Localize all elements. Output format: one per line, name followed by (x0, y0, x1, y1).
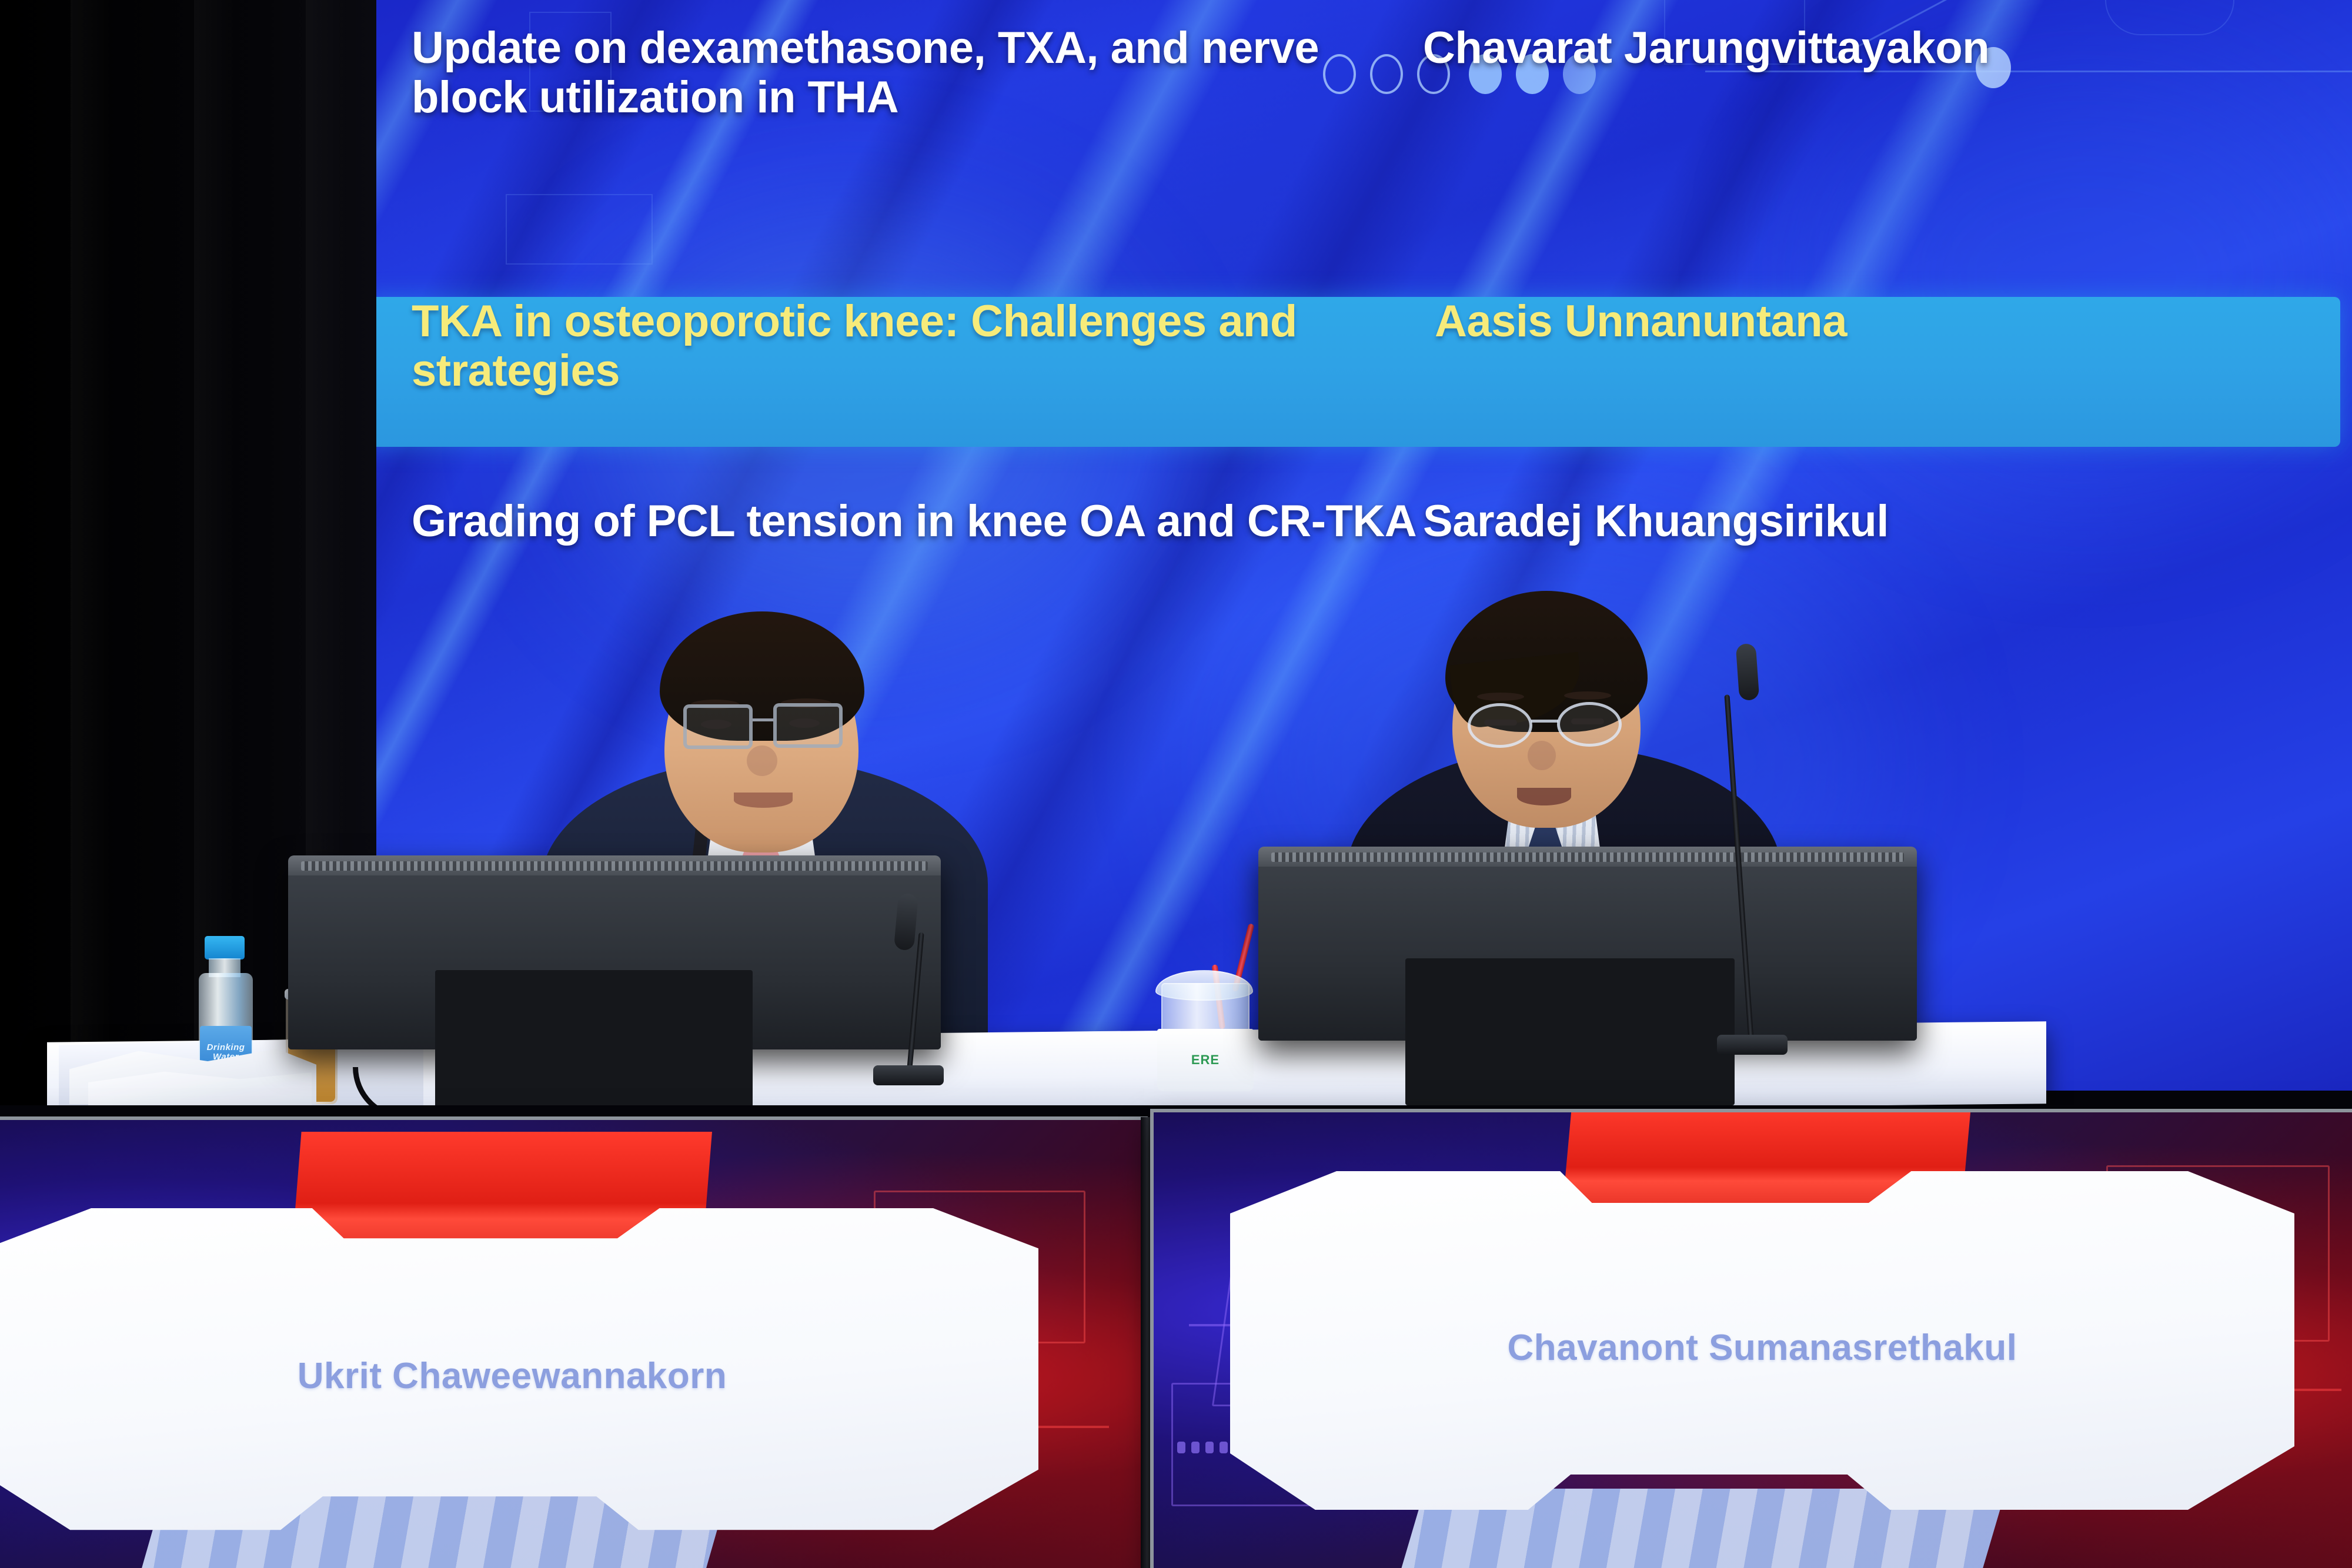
curtain-fold (71, 0, 112, 1117)
slide-row-title: Update on dexamethasone, TXA, and nerve … (353, 24, 1423, 122)
nameplate-screen-left: Ukrit Chaweewannakorn (0, 1120, 1144, 1568)
slide-program-table: Update on dexamethasone, TXA, and nerve … (353, 0, 2352, 706)
panelist-right-eyebrow (1564, 691, 1611, 700)
slide-row: Update on dexamethasone, TXA, and nerve … (353, 24, 2352, 218)
glasses-icon (1557, 702, 1622, 747)
mic-base (873, 1065, 944, 1085)
glasses-icon (1468, 703, 1532, 748)
mic-base (1717, 1035, 1788, 1055)
monitor-stand-right (1405, 958, 1735, 1105)
nameplate-plaque-right: Chavanont Sumanasrethakul (1230, 1171, 2294, 1524)
glasses-bridge (753, 718, 773, 721)
glasses-bridge (1531, 720, 1558, 723)
nameplate-plaque-left: Ukrit Chaweewannakorn (0, 1208, 1038, 1543)
slide-row-title: Grading of PCL tension in knee OA and CR… (353, 497, 1423, 546)
bottle-cap (205, 936, 245, 959)
panelist-right-eyebrow (1477, 693, 1524, 701)
slide-row-speaker: Saradej Khuangsirikul (1423, 497, 2352, 546)
nameplate-name-right: Chavanont Sumanasrethakul (1508, 1327, 2017, 1369)
panelist-right-nose (1528, 741, 1556, 770)
glasses-icon (773, 703, 843, 748)
slide-row-title: TKA in osteoporotic knee: Challenges and… (365, 297, 1435, 395)
nameplate-divider (1141, 1117, 1154, 1568)
panelist-right-mouth (1517, 788, 1571, 805)
monitor-vent (1271, 852, 1903, 862)
cup-sleeve-text: ERE (1191, 1052, 1220, 1068)
mic-head (1736, 643, 1760, 701)
slide-row-speaker: Chavarat Jarungvittayakon (1423, 24, 2352, 73)
cup-sleeve: ERE (1157, 1029, 1254, 1091)
slide-row: Grading of PCL tension in knee OA and CR… (353, 497, 2352, 644)
nameplate-screen-right: Chavanont Sumanasrethakul (1154, 1112, 2352, 1568)
screenshot-root: Update on dexamethasone, TXA, and nerve … (0, 0, 2352, 1568)
glasses-icon (683, 704, 753, 749)
slide-row-speaker: Aasis Unnanuntana (1435, 297, 2340, 346)
panelist-left-mouth (734, 793, 793, 808)
circuit-decoration (1177, 1442, 1228, 1453)
panelist-left-nose (747, 745, 777, 776)
monitor-vent (301, 861, 928, 871)
slide-row-highlighted: TKA in osteoporotic knee: Challenges and… (365, 297, 2340, 447)
nameplate-name-left: Ukrit Chaweewannakorn (298, 1355, 727, 1397)
